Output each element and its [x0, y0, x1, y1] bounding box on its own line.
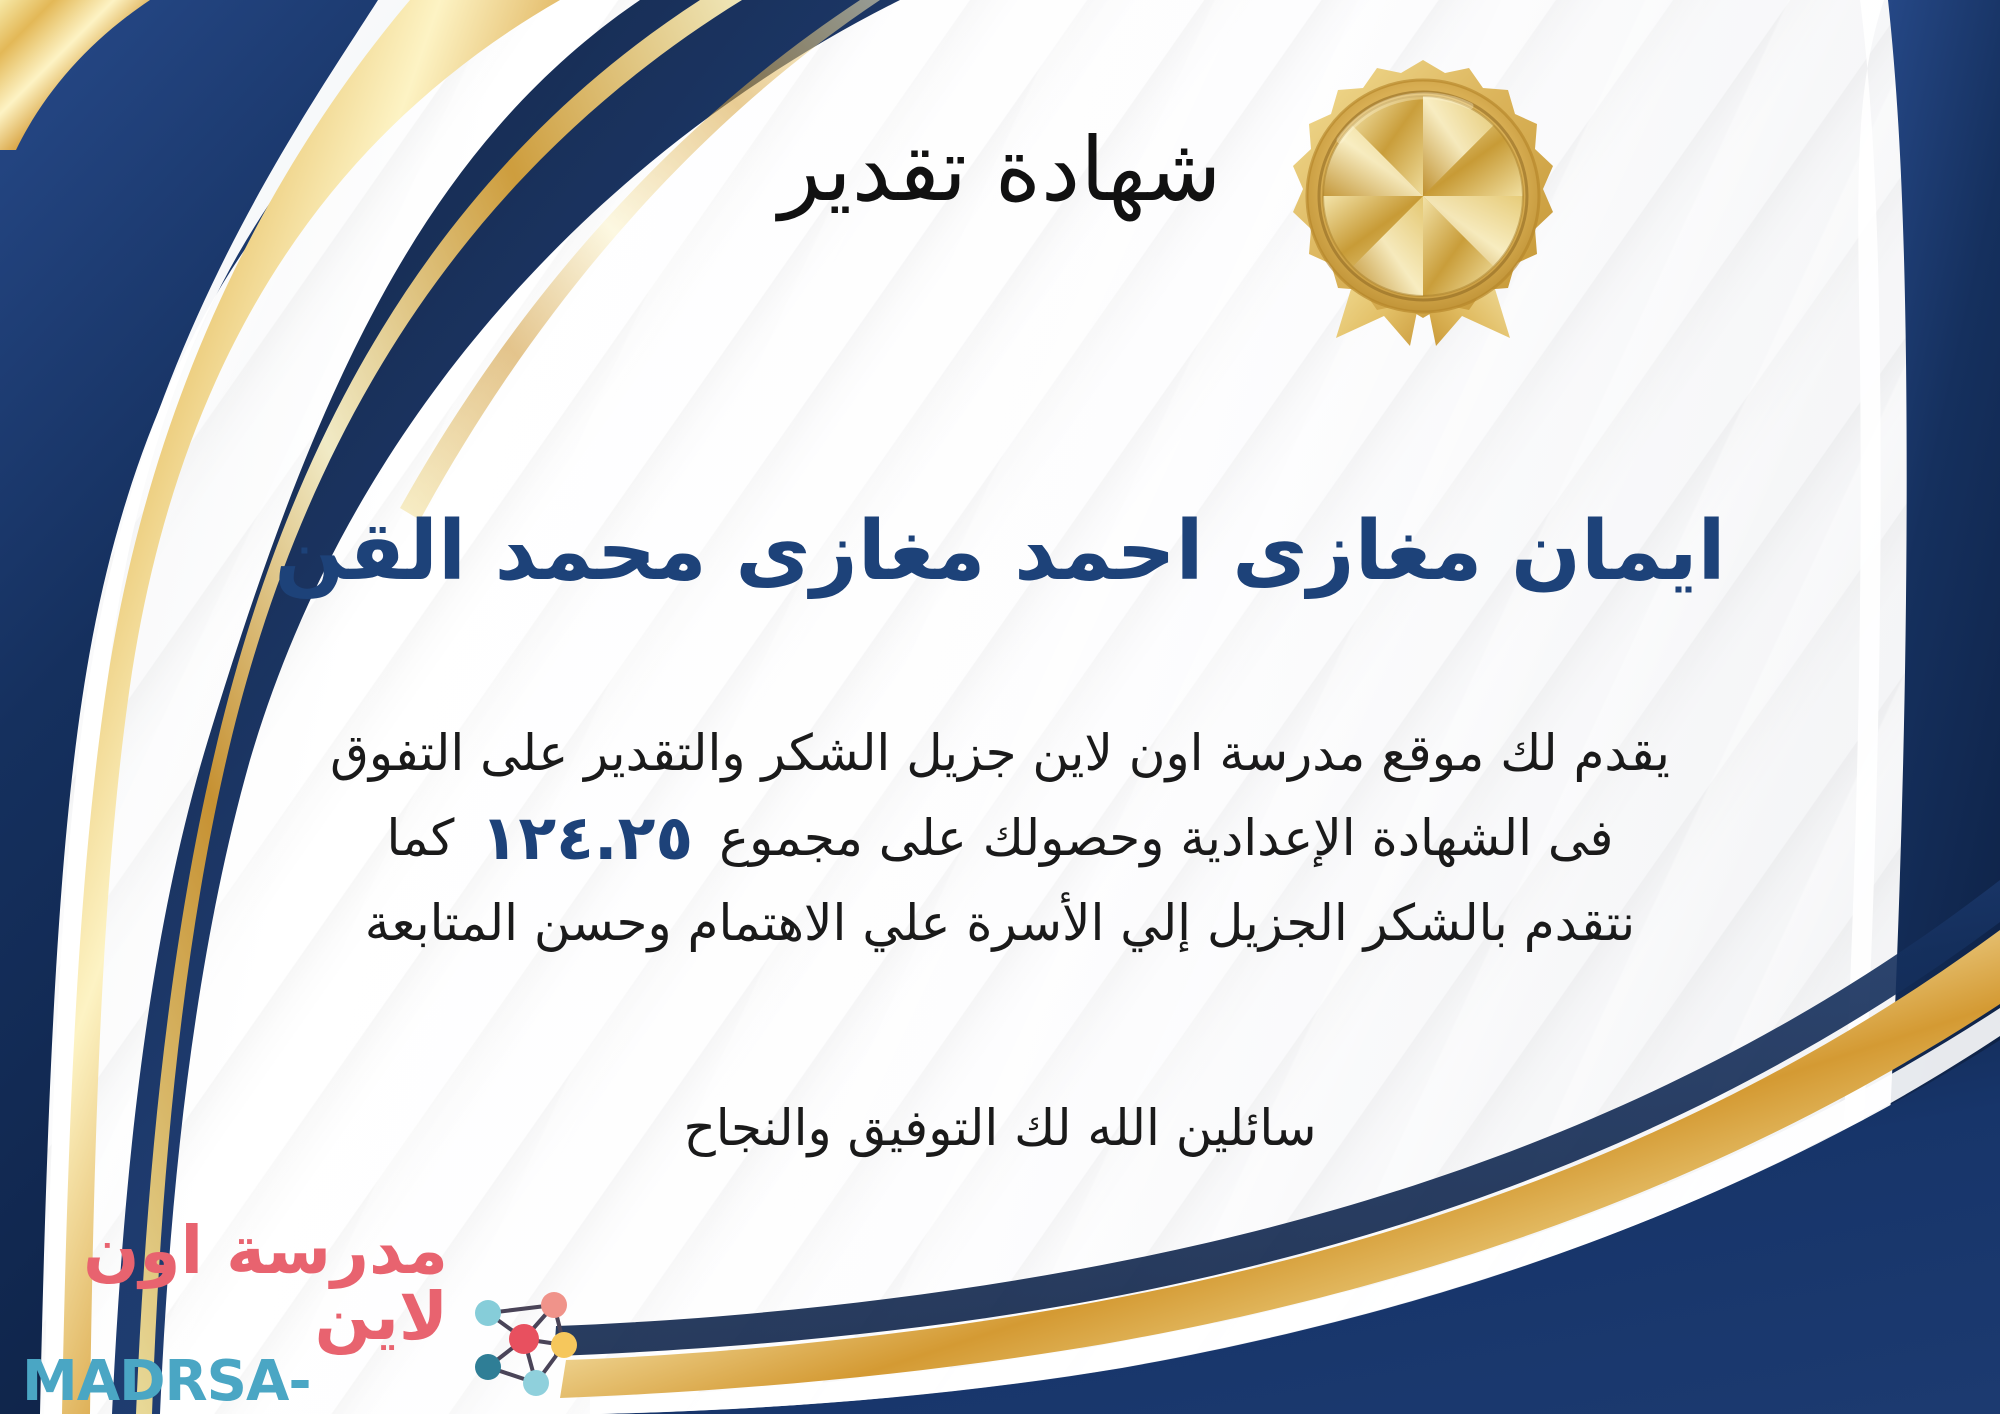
recipient-name: ايمان مغازى احمد مغازى محمد القن: [0, 505, 2000, 599]
body-line-2-prefix: فى الشهادة الإعدادية وحصولك على مجموع: [719, 809, 1613, 867]
logo-website-url: MADRSA-ONLINE.COM: [22, 1354, 448, 1414]
body-line-2: فى الشهادة الإعدادية وحصولك على مجموع١٢٤…: [100, 791, 1900, 885]
closing-line: سائلين الله لك التوفيق والنجاح: [0, 1093, 2000, 1163]
total-score-value: ١٢٤.٢٥: [454, 801, 719, 874]
body-line-3: نتقدم بالشكر الجزيل إلي الأسرة علي الاهت…: [100, 885, 1900, 961]
certificate-canvas: شهادة تقدير ايمان مغازى احمد مغازى محمد …: [0, 0, 2000, 1414]
body-line-2-suffix: كما: [387, 809, 455, 867]
certificate-body: يقدم لك موقع مدرسة اون لاين جزيل الشكر و…: [100, 715, 1900, 961]
certificate-title: شهادة تقدير: [0, 126, 2000, 214]
certificate-content: شهادة تقدير ايمان مغازى احمد مغازى محمد …: [0, 0, 2000, 1414]
network-nodes-icon: [462, 1283, 582, 1401]
body-line-1: يقدم لك موقع مدرسة اون لاين جزيل الشكر و…: [100, 715, 1900, 791]
site-logo[interactable]: مدرسة اون لاين MADRSA-ONLINE.COM: [22, 1218, 582, 1388]
logo-arabic-name: مدرسة اون لاين: [22, 1218, 448, 1350]
